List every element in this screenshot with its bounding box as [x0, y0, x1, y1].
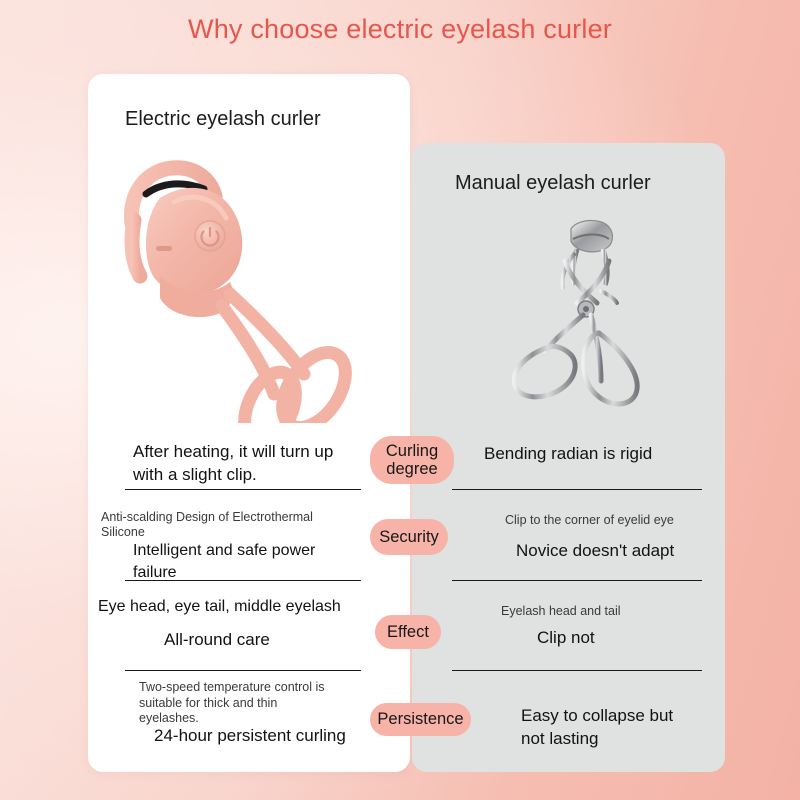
left-row-4-sub: Two-speed temperature control is suitabl… — [139, 680, 325, 727]
pill-security-label: Security — [379, 528, 439, 546]
pill-effect[interactable]: Effect — [375, 615, 441, 649]
left-divider-3 — [125, 670, 361, 671]
left-row-4-main: 24-hour persistent curling — [154, 726, 346, 746]
pill-persistence-label: Persistence — [377, 710, 463, 728]
page-title: Why choose electric eyelash curler — [0, 14, 800, 45]
pill-security[interactable]: Security — [370, 519, 448, 555]
right-divider-2 — [452, 580, 702, 581]
left-row-3-main: All-round care — [164, 630, 270, 650]
right-row-3-main: Clip not — [537, 628, 595, 648]
pill-persistence[interactable]: Persistence — [370, 703, 471, 736]
left-divider-1 — [125, 489, 361, 490]
right-row-2-sub: Clip to the corner of eyelid eye — [505, 513, 674, 527]
pill-effect-label: Effect — [387, 623, 429, 641]
manual-eyelash-curler-icon — [505, 205, 700, 430]
right-row-4-main: Easy to collapse but not lasting — [521, 705, 673, 751]
left-row-2-sub: Anti-scalding Design of Electrothermal S… — [101, 510, 313, 540]
manual-curler-heading: Manual eyelash curler — [455, 172, 651, 195]
left-row-3-sub: Eye head, eye tail, middle eyelash — [98, 598, 341, 616]
right-row-2-main: Novice doesn't adapt — [516, 541, 674, 561]
left-divider-2 — [125, 580, 361, 581]
right-divider-3 — [452, 670, 702, 671]
left-row-1-main: After heating, it will turn up with a sl… — [133, 441, 333, 487]
left-row-2-main: Intelligent and safe power failure — [133, 540, 315, 583]
right-divider-1 — [452, 489, 702, 490]
electric-curler-heading: Electric eyelash curler — [125, 108, 321, 131]
right-row-3-sub: Eyelash head and tail — [501, 604, 621, 618]
right-row-1-main: Bending radian is rigid — [484, 444, 652, 464]
infographic-page: Why choose electric eyelash curler Elect… — [0, 0, 800, 800]
electric-eyelash-curler-icon — [118, 158, 358, 423]
pill-curling-degree[interactable]: Curling degree — [370, 436, 454, 484]
pill-curling-degree-label: Curling degree — [386, 442, 438, 479]
